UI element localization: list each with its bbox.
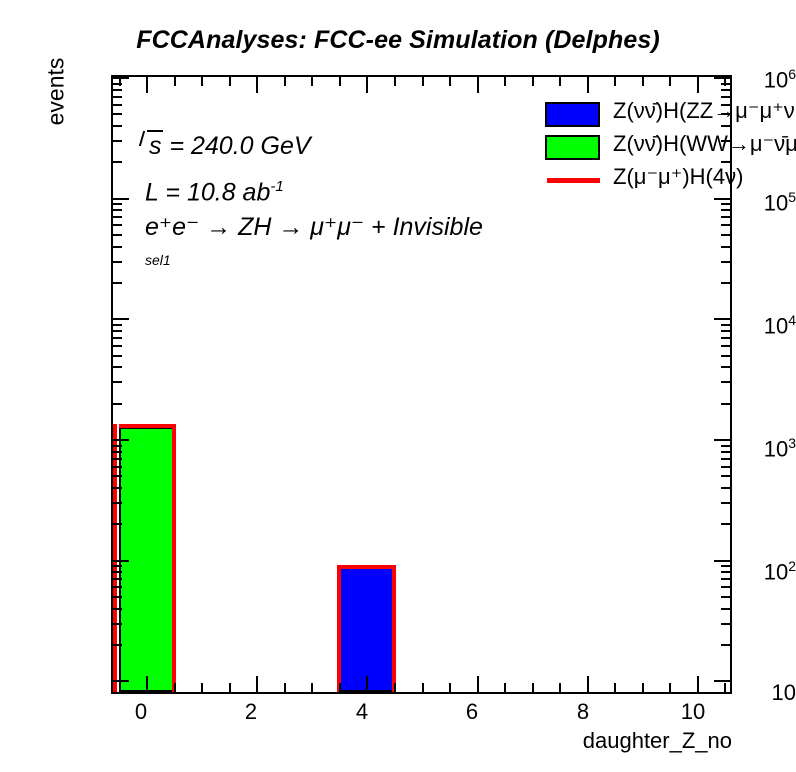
y-minor-tick: [113, 83, 122, 85]
legend-label-4nu: Z(μ⁻μ⁺)H(4ν): [613, 164, 743, 190]
y-minor-tick: [113, 623, 122, 625]
y-minor-tick: [113, 234, 122, 236]
x-tick-label-0: 0: [111, 699, 171, 725]
legend-entry-zz[interactable]: Z(νν̄)H(ZZ→μ⁻μ⁺ν: [545, 98, 796, 131]
y-minor-tick-right: [721, 466, 730, 468]
x-major-tick-top: [256, 77, 258, 93]
x-tick-label-8: 8: [553, 699, 613, 725]
x-major-tick-top: [477, 77, 479, 93]
x-major-tick: [477, 676, 479, 692]
y-major-tick: [113, 439, 129, 441]
x-major-tick: [366, 676, 368, 692]
y-minor-tick: [113, 113, 122, 115]
y-minor-tick-right: [721, 261, 730, 263]
legend-line-4nu: [547, 178, 600, 183]
y-minor-tick-right: [721, 608, 730, 610]
legend: Z(νν̄)H(ZZ→μ⁻μ⁺ν Z(νν̄)H(WW→μ⁻ν̄μ Z(μ⁻μ⁺…: [545, 98, 796, 197]
y-minor-tick: [113, 324, 122, 326]
y-minor-tick: [113, 337, 122, 339]
y-minor-tick: [113, 644, 122, 646]
annotation-selection: sel1: [145, 252, 171, 268]
x-minor-tick-top: [449, 77, 451, 86]
y-minor-tick: [113, 96, 122, 98]
y-tick-label-1e2: 102: [700, 559, 796, 583]
y-minor-tick: [113, 282, 122, 284]
y-minor-tick-right: [721, 345, 730, 347]
y-minor-tick-right: [721, 596, 730, 598]
y-minor-tick: [113, 445, 122, 447]
x-minor-tick-top: [394, 77, 396, 86]
x-minor-tick: [119, 683, 121, 692]
x-minor-tick: [311, 683, 313, 692]
x-minor-tick: [229, 683, 231, 692]
x-tick-label-4: 4: [332, 699, 392, 725]
x-minor-tick-top: [669, 77, 671, 86]
x-minor-tick-top: [119, 77, 121, 86]
y-major-tick: [113, 198, 129, 200]
y-minor-tick: [113, 140, 122, 142]
y-minor-tick: [113, 487, 122, 489]
x-tick-label-10: 10: [663, 699, 723, 725]
y-minor-tick-right: [721, 381, 730, 383]
annotation-sqrt-s-value: = 240.0 GeV: [163, 132, 311, 160]
x-minor-tick: [394, 683, 396, 692]
legend-entry-4nu[interactable]: Z(μ⁻μ⁺)H(4ν): [545, 164, 796, 197]
y-tick-label-1e6: 106: [700, 67, 796, 91]
y-minor-tick: [113, 261, 122, 263]
y-minor-tick-right: [721, 224, 730, 226]
x-minor-tick-top: [201, 77, 203, 86]
x-minor-tick: [449, 683, 451, 692]
y-minor-tick: [113, 224, 122, 226]
y-minor-tick-right: [721, 623, 730, 625]
y-minor-tick: [113, 355, 122, 357]
y-minor-tick-right: [721, 644, 730, 646]
y-minor-tick: [113, 565, 122, 567]
y-minor-tick: [113, 161, 122, 163]
x-major-tick-top: [697, 77, 699, 93]
y-minor-tick: [113, 125, 122, 127]
y-minor-tick: [113, 451, 122, 453]
x-major-tick-top: [146, 77, 148, 93]
x-major-tick-top: [366, 77, 368, 93]
y-minor-tick: [113, 246, 122, 248]
plot-title: FCCAnalyses: FCC-ee Simulation (Delphes): [0, 26, 796, 55]
y-minor-tick-right: [721, 234, 730, 236]
x-minor-tick: [174, 683, 176, 692]
y-tick-label-1e3: 103: [700, 436, 796, 460]
legend-label-zz: Z(νν̄)H(ZZ→μ⁻μ⁺ν: [613, 98, 795, 124]
annotation-sqrt-s: s = 240.0 GeV: [145, 130, 311, 161]
red-step-riser: [392, 565, 396, 692]
x-minor-tick-top: [422, 77, 424, 86]
x-minor-tick: [339, 683, 341, 692]
histogram-bar: [339, 567, 394, 692]
y-axis-label: events: [43, 32, 70, 152]
y-minor-tick-right: [721, 282, 730, 284]
x-minor-tick-top: [642, 77, 644, 86]
y-minor-tick-right: [721, 523, 730, 525]
y-minor-tick-right: [721, 403, 730, 405]
x-major-tick: [146, 676, 148, 692]
x-minor-tick: [559, 683, 561, 692]
y-minor-tick-right: [721, 246, 730, 248]
x-minor-tick-top: [174, 77, 176, 86]
y-minor-tick: [113, 104, 122, 106]
y-minor-tick: [113, 209, 122, 211]
y-minor-tick-right: [721, 487, 730, 489]
y-minor-tick-right: [721, 502, 730, 504]
y-minor-tick: [113, 523, 122, 525]
x-minor-tick-top: [311, 77, 313, 86]
x-minor-tick: [642, 683, 644, 692]
y-minor-tick: [113, 381, 122, 383]
x-minor-tick: [614, 683, 616, 692]
y-minor-tick: [113, 475, 122, 477]
sqrt-symbol: s: [147, 130, 163, 161]
y-minor-tick: [113, 596, 122, 598]
y-major-tick: [113, 680, 129, 682]
y-minor-tick: [113, 578, 122, 580]
legend-swatch-ww: [545, 135, 600, 160]
y-minor-tick: [113, 586, 122, 588]
y-minor-tick: [113, 216, 122, 218]
y-minor-tick: [113, 466, 122, 468]
y-minor-tick: [113, 608, 122, 610]
y-major-tick: [113, 318, 129, 320]
red-step-top: [119, 424, 174, 428]
red-step-riser: [113, 424, 117, 692]
y-minor-tick: [113, 203, 122, 205]
x-tick-label-2: 2: [221, 699, 281, 725]
y-minor-tick-right: [721, 355, 730, 357]
red-step-top: [339, 565, 394, 569]
x-minor-tick-top: [229, 77, 231, 86]
y-minor-tick: [113, 330, 122, 332]
y-tick-label-1e4: 104: [700, 313, 796, 337]
x-axis-title: daughter_Z_no: [432, 728, 732, 754]
y-minor-tick-right: [721, 586, 730, 588]
x-major-tick: [697, 676, 699, 692]
x-minor-tick-top: [559, 77, 561, 86]
y-minor-tick-right: [721, 475, 730, 477]
annotation-luminosity-exponent: -1: [270, 178, 283, 195]
x-minor-tick: [284, 683, 286, 692]
y-major-tick: [113, 77, 129, 79]
y-minor-tick: [113, 502, 122, 504]
x-minor-tick-top: [504, 77, 506, 86]
y-minor-tick: [113, 366, 122, 368]
x-minor-tick: [422, 683, 424, 692]
plot-canvas: FCCAnalyses: FCC-ee Simulation (Delphes)…: [0, 0, 796, 772]
x-minor-tick-top: [284, 77, 286, 86]
red-step-riser: [172, 424, 176, 692]
legend-entry-ww[interactable]: Z(νν̄)H(WW→μ⁻ν̄μ: [545, 131, 796, 164]
legend-label-ww: Z(νν̄)H(WW→μ⁻ν̄μ: [613, 131, 796, 157]
y-minor-tick-right: [721, 366, 730, 368]
x-major-tick: [587, 676, 589, 692]
x-major-tick-top: [587, 77, 589, 93]
x-minor-tick-top: [532, 77, 534, 86]
x-minor-tick-top: [614, 77, 616, 86]
x-minor-tick-top: [339, 77, 341, 86]
y-minor-tick: [113, 458, 122, 460]
x-minor-tick: [669, 683, 671, 692]
x-major-tick: [256, 676, 258, 692]
red-step-riser: [337, 565, 341, 692]
x-minor-tick: [532, 683, 534, 692]
annotation-luminosity-text: L = 10.8 ab: [145, 178, 270, 206]
y-major-tick: [113, 560, 129, 562]
annotation-luminosity: L = 10.8 ab-1: [145, 178, 284, 207]
y-minor-tick: [113, 89, 122, 91]
x-tick-label-6: 6: [442, 699, 502, 725]
y-minor-tick: [113, 345, 122, 347]
legend-swatch-zz: [545, 102, 600, 127]
x-minor-tick: [201, 683, 203, 692]
y-minor-tick: [113, 571, 122, 573]
x-minor-tick: [504, 683, 506, 692]
y-minor-tick: [113, 403, 122, 405]
y-minor-tick-right: [721, 216, 730, 218]
annotation-process: e⁺e⁻ → ZH → μ⁺μ⁻ + Invisible: [145, 212, 483, 242]
